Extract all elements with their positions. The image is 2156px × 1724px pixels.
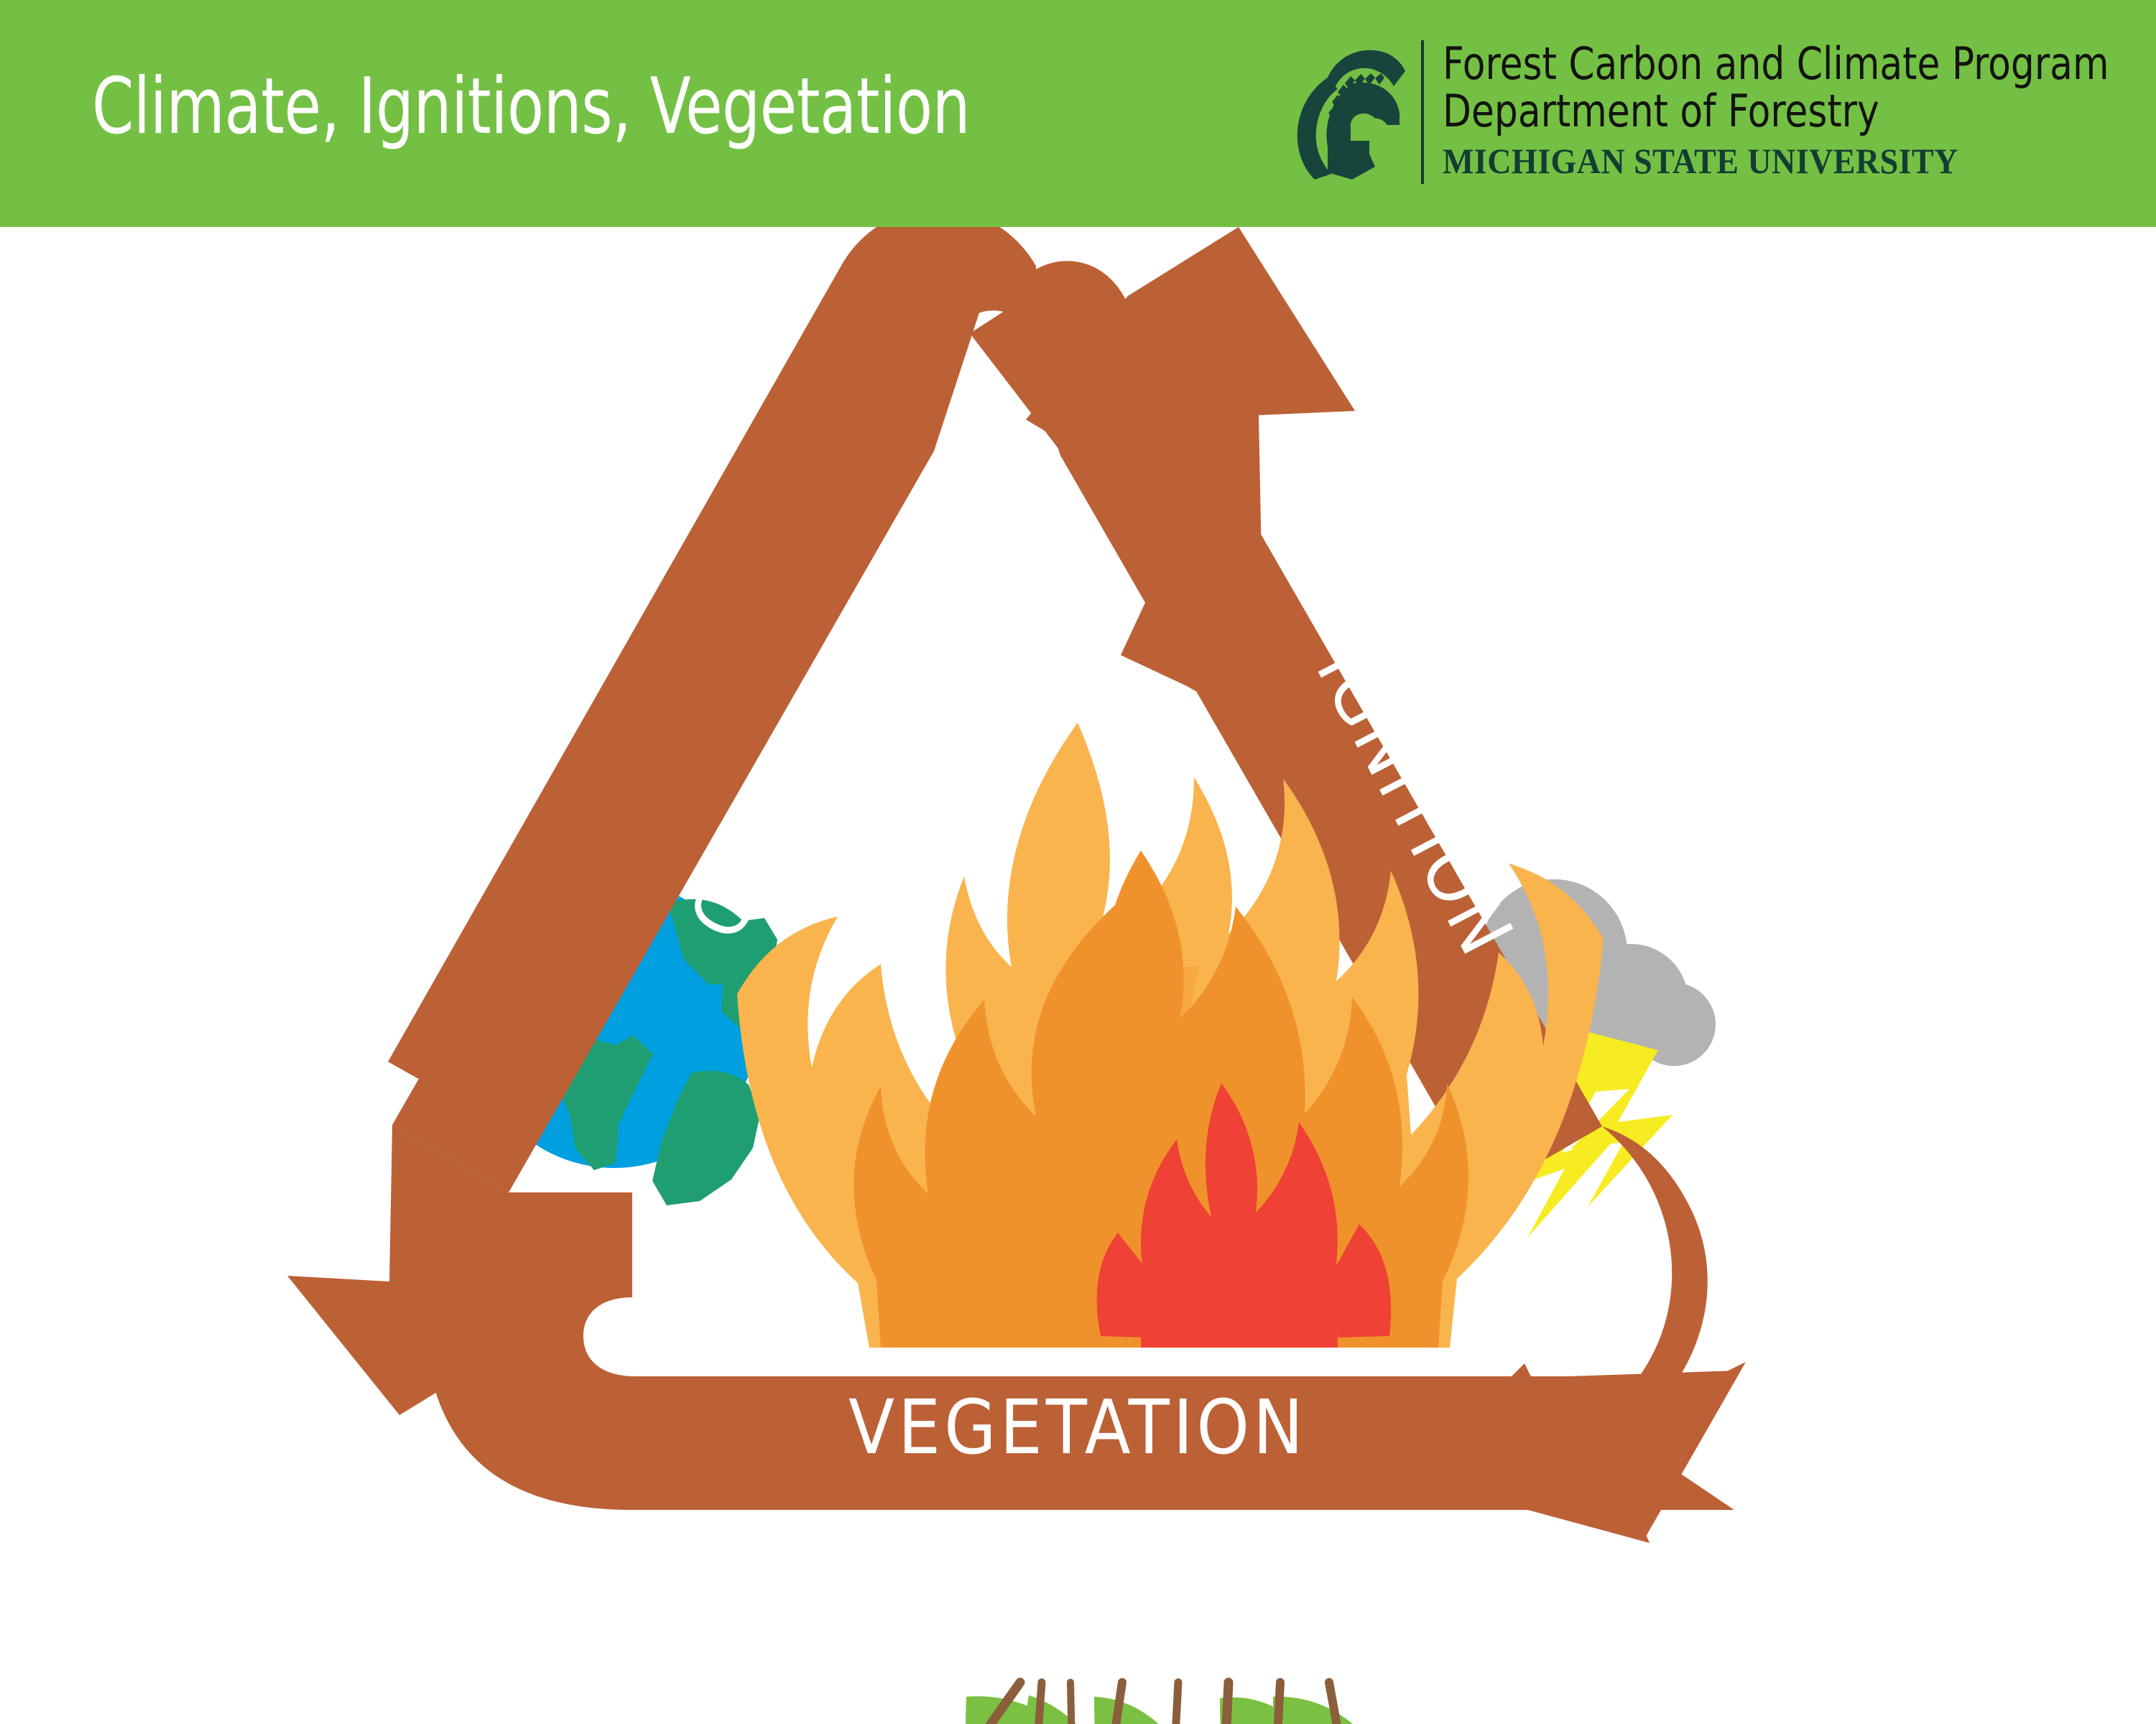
diagram-canvas [0,227,2156,1724]
logo-text-block: Forest Carbon and Climate Program Depart… [1443,39,2156,182]
header-bar: Climate, Ignitions, Vegetation [0,0,2156,227]
msu-spartan-helmet-icon [1286,39,1408,182]
logo-university-name: MICHIGAN STATE UNIVERSITY [1443,139,2102,182]
logo-department-name: Department of Forestry [1443,88,2109,135]
roots-icon [904,1682,1437,1724]
page-title: Climate, Ignitions, Vegetation [92,66,970,147]
logo-program-name: Forest Carbon and Climate Program [1443,40,2109,88]
fire-cycle-diagram: CLIMATE IGNITION VEGETATION [0,227,2156,1724]
msu-logo: Forest Carbon and Climate Program Depart… [1286,39,2156,190]
logo-divider [1421,40,1424,184]
